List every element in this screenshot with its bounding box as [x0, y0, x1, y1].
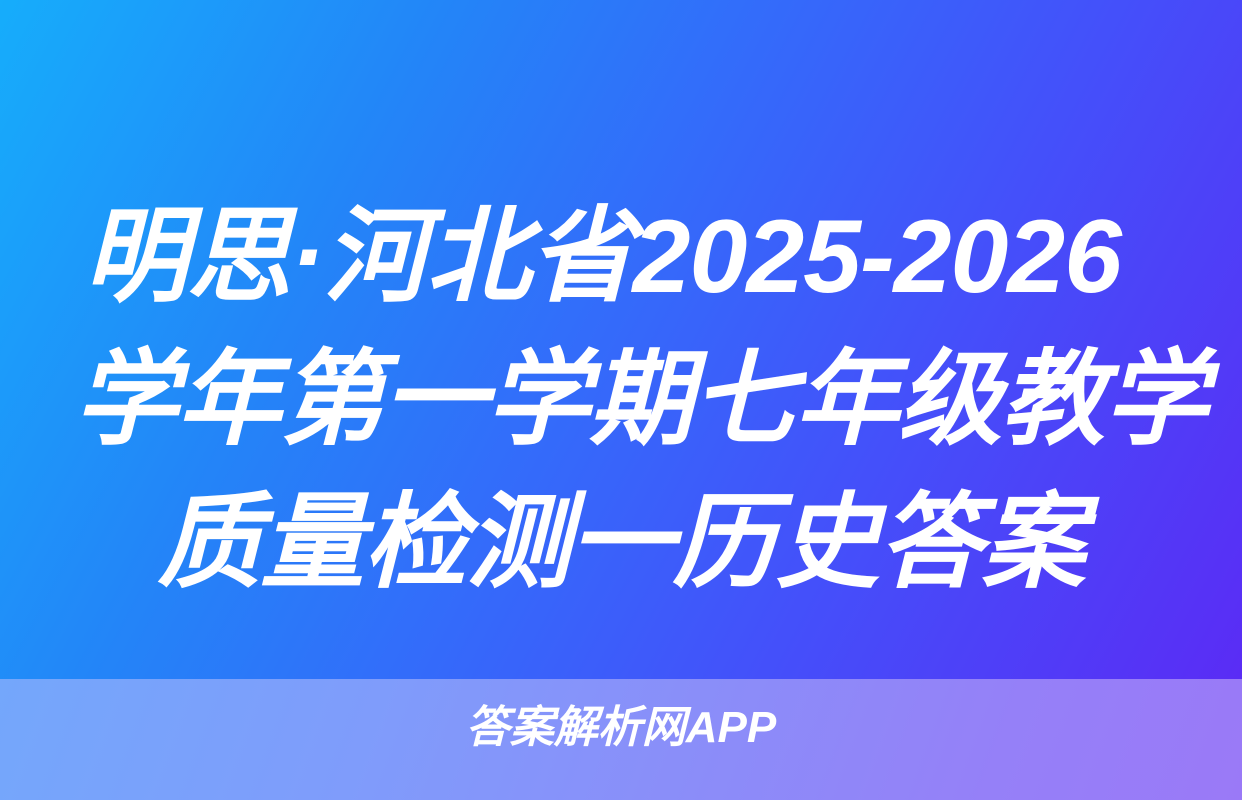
watermark-label: 答案解析网APP	[466, 700, 776, 756]
answer-poster: 明思·河北省2025-2026 学年第一学期七年级教学 质量检测一历史答案 答案…	[0, 0, 1242, 800]
title-line-1: 明思·河北省2025-2026	[62, 186, 1180, 329]
watermark: 答案解析网APP	[0, 700, 1242, 756]
page-title: 明思·河北省2025-2026 学年第一学期七年级教学 质量检测一历史答案	[0, 186, 1242, 615]
title-line-2: 学年第一学期七年级教学	[62, 329, 1180, 472]
title-line-3: 质量检测一历史答案	[62, 472, 1180, 615]
